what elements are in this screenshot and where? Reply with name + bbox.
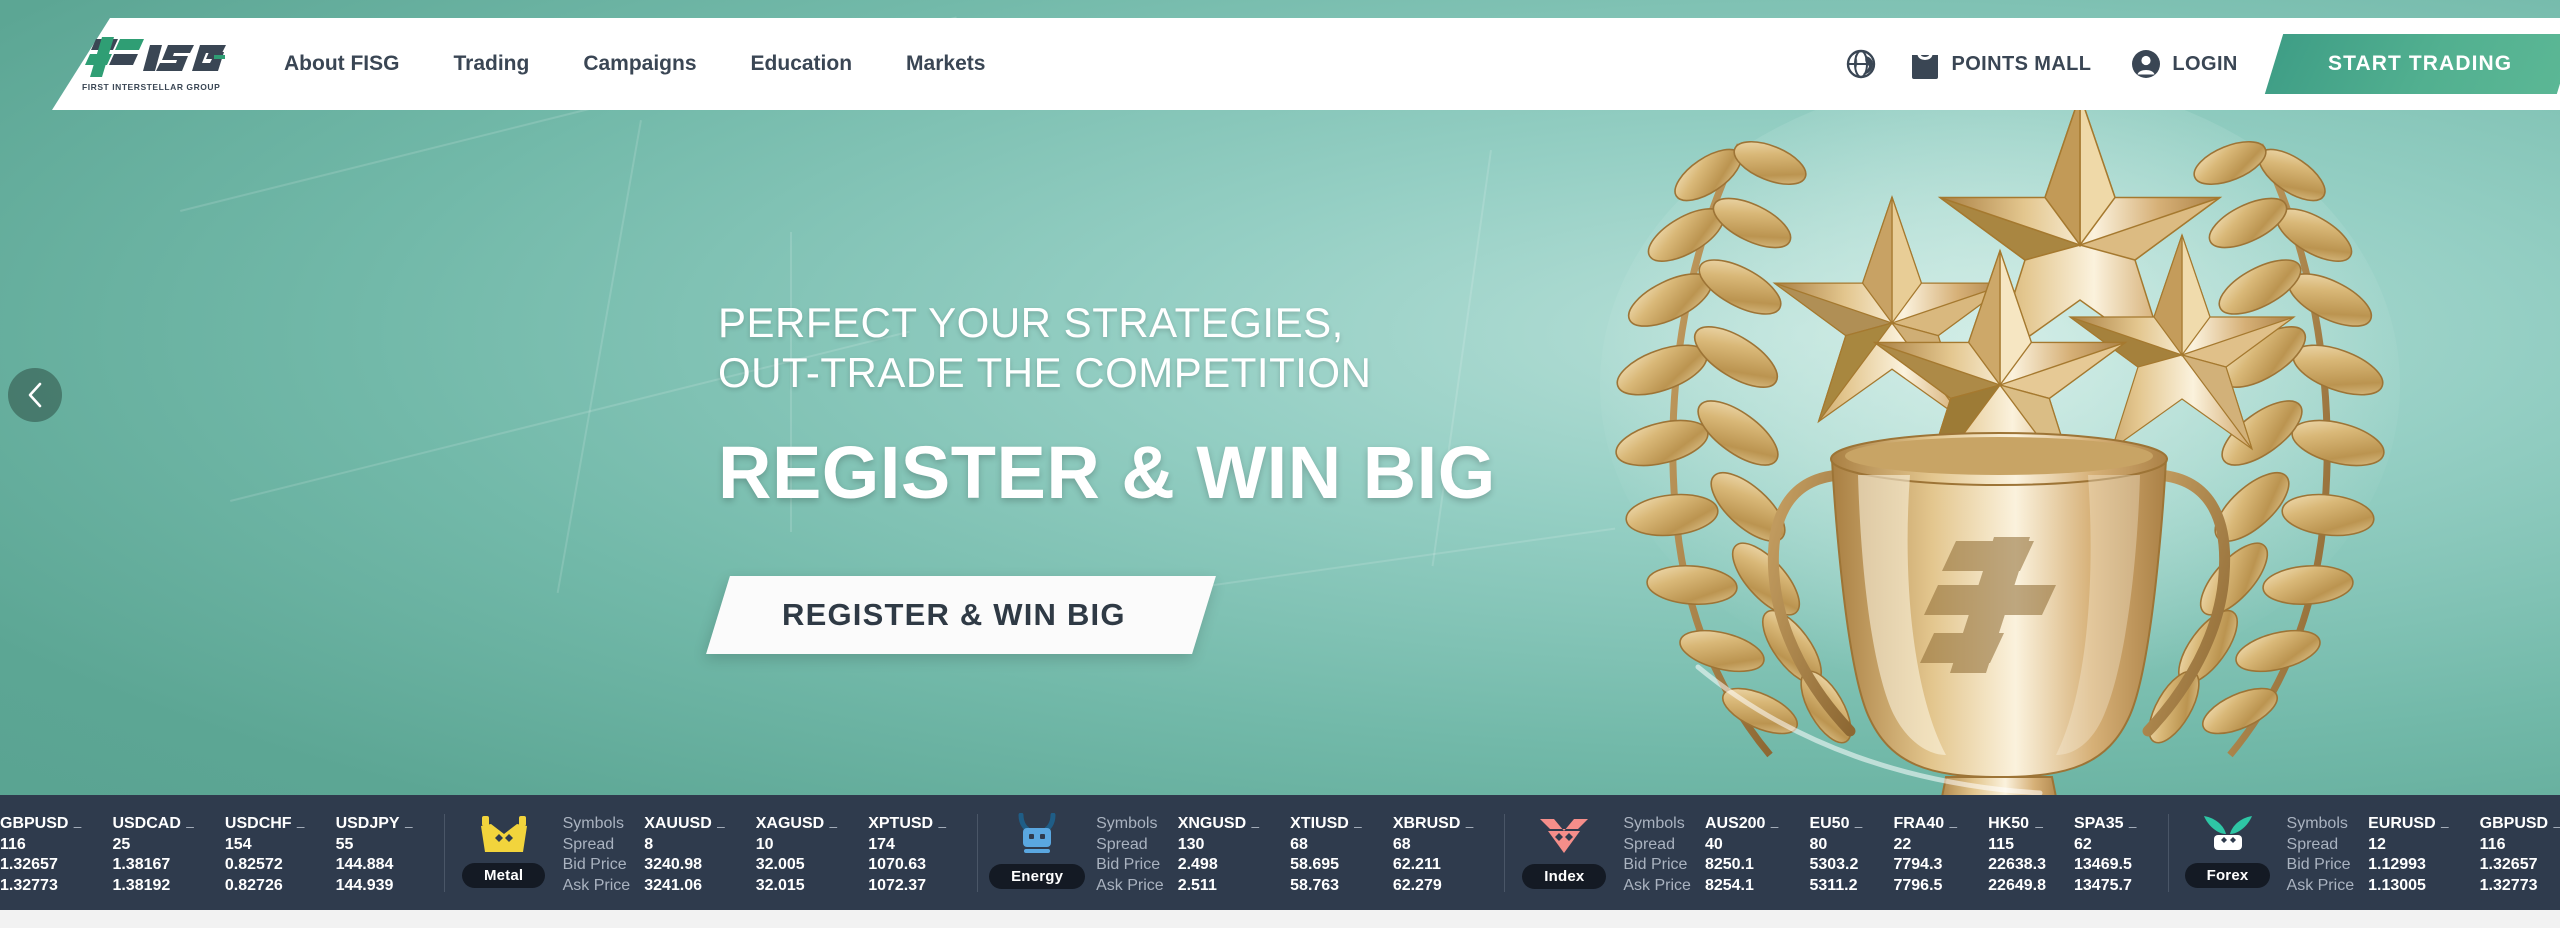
ticker-spread-value: 130 [1178,835,1262,856]
ticker-ask-price: 1.32773 [0,876,84,897]
nav-item-about-fisg[interactable]: About FISG [284,52,399,76]
ticker-change-dash: – [717,816,725,837]
hero-copy: PERFECT YOUR STRATEGIES, OUT-TRADE THE C… [718,298,1538,654]
ticker-group[interactable]: ForexSymbolsSpreadBid PriceAsk PriceEURU… [2169,795,2560,910]
hero-title: REGISTER & WIN BIG [718,432,1538,514]
hero-subtitle-line2: OUT-TRADE THE COMPETITION [718,348,1538,398]
hero-subtitle-line1: PERFECT YOUR STRATEGIES, [718,298,1538,348]
ticker-bid-price: 5303.2 [1809,855,1865,876]
crown-icon [478,814,530,856]
ticker-ask-price: 5311.2 [1809,876,1865,897]
ticker-category-index[interactable]: Index [1505,795,1623,910]
ticker-spread-value: 68 [1393,835,1477,856]
ticker-symbol-name[interactable]: EURUSD– [2368,814,2452,835]
ticker-bid-price: 8250.1 [1705,855,1781,876]
ticker-row-label: Bid Price [1623,855,1691,876]
ticker-category-label: Forex [2185,863,2271,888]
ticker-symbol-column[interactable]: FRA40–227794.37796.5 [1893,814,1960,896]
ticker-change-dash: – [405,816,413,837]
start-trading-label: START TRADING [2328,52,2512,76]
chevron-left-icon [25,380,45,410]
ticker-ask-price: 3241.06 [644,876,728,897]
ticker-symbol-column[interactable]: GBPUSD–1161.326571.32773 [0,814,84,896]
ticker-row-label: Spread [2287,835,2355,856]
hero-banner: PERFECT YOUR STRATEGIES, OUT-TRADE THE C… [0,0,2560,795]
ticker-group[interactable]: GBPUSD–1161.326571.32773USDCAD–251.38167… [0,795,444,910]
ticker-symbol-name[interactable]: XBRUSD– [1393,814,1477,835]
ticker-ask-price: 1.38192 [112,876,196,897]
ticker-bid-price: 62.211 [1393,855,1477,876]
nav-item-trading[interactable]: Trading [453,52,529,76]
ticker-symbol-name[interactable]: USDCAD– [112,814,196,835]
ticker-spread-value: 40 [1705,835,1781,856]
ticker-symbol-column[interactable]: EU50–805303.25311.2 [1809,814,1865,896]
ticker-bid-price: 58.695 [1290,855,1365,876]
ticker-row-label: Symbols [1096,814,1164,835]
ticker-symbol-column[interactable]: USDJPY–55144.884144.939 [336,814,416,896]
ticker-group[interactable]: MetalSymbolsSpreadBid PriceAsk PriceXAUU… [445,795,978,910]
user-account-icon [2131,49,2161,79]
ticker-spread-value: 174 [868,835,949,856]
ticker-change-dash: – [186,816,194,837]
ticker-ask-price: 58.763 [1290,876,1365,897]
nav-item-campaigns[interactable]: Campaigns [583,52,696,76]
ticker-symbol-column[interactable]: XTIUSD–6858.69558.763 [1290,814,1365,896]
ticker-symbol-name[interactable]: SPA35– [2074,814,2140,835]
ticker-spread-value: 68 [1290,835,1365,856]
ticker-symbol-name[interactable]: XAUUSD– [644,814,728,835]
ticker-row-label: Ask Price [563,876,631,897]
ticker-category-label: Metal [462,863,545,888]
ticker-change-dash: – [1354,816,1362,837]
site-header: FIRST INTERSTELLAR GROUP About FISG Trad… [0,0,2560,110]
ticker-table: SymbolsSpreadBid PriceAsk PriceEURUSD–12… [2287,795,2560,910]
ticker-row-label: Ask Price [2287,876,2355,897]
ticker-row-label: Bid Price [1096,855,1164,876]
nav-item-markets[interactable]: Markets [906,52,985,76]
ticker-change-dash: – [829,816,837,837]
page-root: PERFECT YOUR STRATEGIES, OUT-TRADE THE C… [0,0,2560,928]
ticker-bid-price: 1.32657 [2480,855,2560,876]
ticker-group[interactable]: EnergySymbolsSpreadBid PriceAsk PriceXNG… [978,795,1504,910]
ticker-spread-value: 62 [2074,835,2140,856]
fisg-logo-icon [82,37,230,79]
ticker-change-dash: – [1466,816,1474,837]
points-mall-label: POINTS MALL [1951,53,2091,76]
ticker-spread-value: 116 [0,835,84,856]
register-win-big-button[interactable]: REGISTER & WIN BIG [706,576,1216,654]
logo-tagline: FIRST INTERSTELLAR GROUP [82,82,220,92]
ticker-ask-price: 8254.1 [1705,876,1781,897]
ticker-symbol-name[interactable]: AUS200– [1705,814,1781,835]
ticker-row-label: Symbols [2287,814,2355,835]
ticker-row-label: Spread [1623,835,1691,856]
ticker-category-metal[interactable]: Metal [445,795,563,910]
index-mask-icon [1538,813,1590,857]
ticker-row-label: Spread [563,835,631,856]
ticker-category-label: Energy [989,864,1085,889]
ticker-category-label: Index [1522,864,1606,889]
ticker-row-label: Spread [1096,835,1164,856]
ticker-row-label: Ask Price [1623,876,1691,897]
ticker-symbol-column[interactable]: GBPUSD–1161.326571.32773 [2480,814,2560,896]
ticker-ask-price: 62.279 [1393,876,1477,897]
ticker-symbol-column[interactable]: USDCHF–1540.825720.82726 [225,814,308,896]
ticker-spread-value: 80 [1809,835,1865,856]
ticker-change-dash: – [938,816,946,837]
forex-sprout-icon [2202,814,2254,856]
ticker-ask-price: 2.511 [1178,876,1262,897]
ticker-group[interactable]: IndexSymbolsSpreadBid PriceAsk PriceAUS2… [1505,795,2167,910]
ticker-bid-price: 22638.3 [1988,855,2046,876]
ticker-row-labels: SymbolsSpreadBid PriceAsk Price [1096,814,1164,896]
ticker-change-dash: – [2035,816,2043,837]
ticker-spread-value: 115 [1988,835,2046,856]
ticker-bid-price: 3240.98 [644,855,728,876]
ticker-symbol-name[interactable]: XTIUSD– [1290,814,1365,835]
ticker-row-label: Symbols [563,814,631,835]
ticker-row-labels: SymbolsSpreadBid PriceAsk Price [2287,814,2355,896]
ticker-symbol-name[interactable]: USDCHF– [225,814,308,835]
ticker-bid-price: 13469.5 [2074,855,2140,876]
ticker-symbol-column[interactable]: SPA35–6213469.513475.7 [2074,814,2140,896]
ticker-bid-price: 1070.63 [868,855,949,876]
ticker-spread-value: 55 [336,835,416,856]
login-label: LOGIN [2172,53,2237,76]
ticker-ask-price: 1072.37 [868,876,949,897]
ticker-ask-price: 1.32773 [2480,876,2560,897]
ticker-bid-price: 32.005 [756,855,840,876]
ticker-bid-price: 1.12993 [2368,855,2452,876]
ticker-change-dash: – [297,816,305,837]
ticker-table: GBPUSD–1161.326571.32773USDCAD–251.38167… [0,795,444,910]
ticker-spread-value: 154 [225,835,308,856]
ticker-row-label: Ask Price [1096,876,1164,897]
ticker-bid-price: 1.38167 [112,855,196,876]
ticker-symbol-column[interactable]: XBRUSD–6862.21162.279 [1393,814,1477,896]
ticker-symbol-column[interactable]: AUS200–408250.18254.1 [1705,814,1781,896]
ticker-ask-price: 13475.7 [2074,876,2140,897]
ticker-bid-price: 0.82572 [225,855,308,876]
ticker-ask-price: 1.13005 [2368,876,2452,897]
ticker-row-label: Symbols [1623,814,1691,835]
ticker-change-dash: – [1771,816,1779,837]
globe-icon [1846,49,1876,79]
ticker-spread-value: 8 [644,835,728,856]
start-trading-button[interactable]: START TRADING [2265,34,2560,94]
ticker-spread-value: 22 [1893,835,1960,856]
ticker-symbol-column[interactable]: XAUUSD–83240.983241.06 [644,814,728,896]
ticker-symbol-name[interactable]: GBPUSD– [0,814,84,835]
ticker-symbol-name[interactable]: GBPUSD– [2480,814,2560,835]
ticker-symbol-column[interactable]: EURUSD–121.129931.13005 [2368,814,2452,896]
ticker-change-dash: – [1855,816,1863,837]
ticker-change-dash: – [1251,816,1259,837]
ticker-symbol-name[interactable]: XNGUSD– [1178,814,1262,835]
ticker-symbol-column[interactable]: USDCAD–251.381671.38192 [112,814,196,896]
ticker-change-dash: – [2129,816,2137,837]
ticker-spread-value: 25 [112,835,196,856]
ticker-spread-value: 116 [2480,835,2560,856]
ticker-change-dash: – [2441,816,2449,837]
ticker-symbol-name[interactable]: EU50– [1809,814,1865,835]
market-ticker-bar[interactable]: GBPUSD–1161.326571.32773USDCAD–251.38167… [0,795,2560,910]
ticker-symbol-name[interactable]: XAGUSD– [756,814,840,835]
ticker-spread-value: 10 [756,835,840,856]
ticker-ask-price: 144.939 [336,876,416,897]
ticker-row-labels: SymbolsSpreadBid PriceAsk Price [563,814,631,896]
points-mall-button[interactable]: POINTS MALL [1910,48,2091,80]
ticker-symbol-name[interactable]: XPTUSD– [868,814,949,835]
ticker-ask-price: 0.82726 [225,876,308,897]
ticker-change-dash: – [2553,816,2560,837]
ticker-bid-price: 7794.3 [1893,855,1960,876]
ticker-bid-price: 1.32657 [0,855,84,876]
ticker-row-labels: SymbolsSpreadBid PriceAsk Price [1623,814,1691,896]
main-navigation: About FISG Trading Campaigns Education M… [284,52,985,76]
ticker-ask-price: 7796.5 [1893,876,1960,897]
ticker-ask-price: 22649.8 [1988,876,2046,897]
nav-item-education[interactable]: Education [751,52,853,76]
ticker-bid-price: 144.884 [336,855,416,876]
ticker-table: SymbolsSpreadBid PriceAsk PriceAUS200–40… [1623,795,2167,910]
ticker-symbol-column[interactable]: XAGUSD–1032.00532.015 [756,814,840,896]
site-logo[interactable]: FIRST INTERSTELLAR GROUP [82,37,232,92]
ticker-change-dash: – [74,816,82,837]
ticker-symbol-name[interactable]: USDJPY– [336,814,416,835]
oil-barrel-robot-icon [1013,813,1061,857]
language-selector-button[interactable] [1846,49,1876,79]
ticker-spread-value: 12 [2368,835,2452,856]
ticker-category-energy[interactable]: Energy [978,795,1096,910]
hero-decor-line [557,120,642,593]
ticker-symbol-column[interactable]: XNGUSD–1302.4982.511 [1178,814,1262,896]
header-actions: POINTS MALL LOGIN START TRADING [1846,18,2560,110]
ticker-ask-price: 32.015 [756,876,840,897]
trophy-artwork [1440,55,2500,795]
ticker-bid-price: 2.498 [1178,855,1262,876]
shopping-bag-icon [1910,48,1940,80]
ticker-symbol-name[interactable]: FRA40– [1893,814,1960,835]
ticker-table: SymbolsSpreadBid PriceAsk PriceXAUUSD–83… [563,795,978,910]
page-bottom-strip [0,910,2560,928]
carousel-prev-button[interactable] [8,368,62,422]
ticker-row-label: Bid Price [563,855,631,876]
hero-cta-label: REGISTER & WIN BIG [782,597,1126,633]
ticker-symbol-name[interactable]: HK50– [1988,814,2046,835]
ticker-row-label: Bid Price [2287,855,2355,876]
ticker-category-forex[interactable]: Forex [2169,795,2287,910]
ticker-symbol-column[interactable]: XPTUSD–1741070.631072.37 [868,814,949,896]
ticker-symbol-column[interactable]: HK50–11522638.322649.8 [1988,814,2046,896]
ticker-change-dash: – [1949,816,1957,837]
login-button[interactable]: LOGIN [2131,49,2237,79]
ticker-table: SymbolsSpreadBid PriceAsk PriceXNGUSD–13… [1096,795,1504,910]
